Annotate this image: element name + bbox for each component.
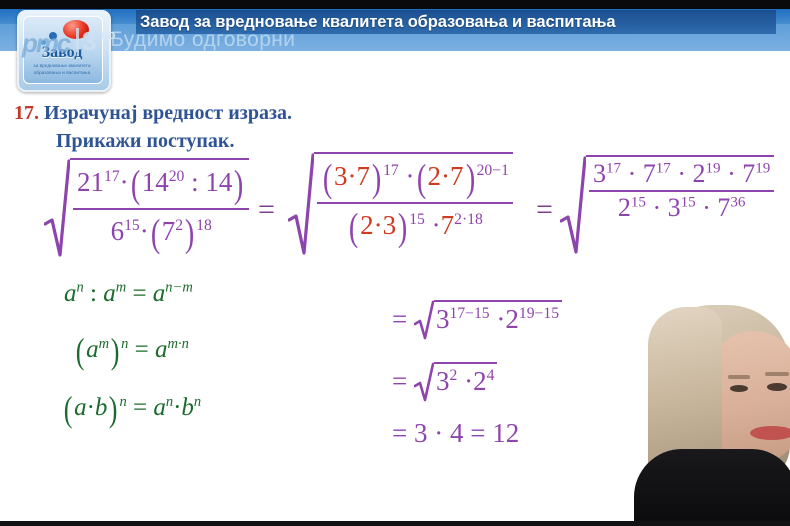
- radical-sign-icon: [288, 152, 314, 256]
- math-term-exponent: 19: [755, 160, 770, 176]
- expression-3-denominator: 215 · 315 · 736: [589, 190, 774, 223]
- math-term-exponent: 19: [706, 160, 721, 176]
- math-term-exponent: 15: [631, 194, 646, 210]
- multiplication-dot: ·: [646, 193, 668, 222]
- math-term-base: 3: [593, 159, 606, 188]
- header-title: Завод за вредновање квалитета образовања…: [136, 10, 776, 34]
- bottom-letterbox-bar: [0, 521, 790, 526]
- math-term-base: 2: [693, 159, 706, 188]
- solution-step-1: = 317−15 ·219−15: [392, 300, 562, 340]
- task-instruction-line-1: Израчунај вредност израза.: [44, 102, 292, 125]
- presenter-torso: [634, 449, 790, 521]
- expression-3-fraction: 317 · 717 · 219 · 719 215 · 315 · 736: [586, 155, 774, 255]
- expression-1-numerator: 2117·(1420 : 14): [73, 162, 249, 208]
- solution-step-2: = 32 ·24: [392, 362, 497, 402]
- expression-2-denominator: (2·3)15 ·72·18: [317, 202, 513, 250]
- expression-2-fraction: (3·7)17 ·(2·7)20−1 (2·3)15 ·72·18: [314, 152, 513, 256]
- presenter-lips: [750, 426, 790, 440]
- logo-subline-2: образовања и васпитања: [19, 70, 105, 75]
- task-number: 17.: [14, 102, 39, 125]
- math-term-exponent: 36: [730, 194, 745, 210]
- expression-1-fraction: 2117·(1420 : 14) 615·(72)18: [70, 158, 249, 258]
- task-instruction-line-2: Прикажи поступак.: [56, 130, 234, 153]
- multiplication-dot: ·: [671, 159, 693, 188]
- multiplication-dot: ·: [721, 159, 743, 188]
- power-rule-2: (am)n = am·n: [74, 330, 189, 372]
- presenter-video-cutout: [612, 293, 790, 521]
- expression-2-numerator: (3·7)17 ·(2·7)20−1: [317, 156, 513, 202]
- expression-3-radical: 317 · 717 · 219 · 719 215 · 315 · 736: [560, 155, 774, 255]
- equals-sign-2: =: [536, 193, 553, 227]
- math-term-exponent: 15: [681, 194, 696, 210]
- expression-2-radical: (3·7)17 ·(2·7)20−1 (2·3)15 ·72·18: [288, 152, 513, 256]
- radical-sign-icon: [44, 158, 70, 258]
- radical-sign-icon: [414, 362, 434, 402]
- channel-bug-number: 3: [82, 26, 96, 57]
- radical-sign-icon: [560, 155, 586, 255]
- math-term-base: 2: [618, 193, 631, 222]
- expression-3-numerator: 317 · 717 · 219 · 719: [589, 159, 774, 190]
- logo-subline-1: за вредновање квалитета: [19, 63, 105, 68]
- math-term-exponent: 17: [656, 160, 671, 176]
- expression-1-denominator: 615·(72)18: [73, 208, 249, 256]
- solution-step-3-result: = 3 · 4 = 12: [392, 418, 519, 449]
- channel-bug-divider: [76, 28, 79, 52]
- broadcast-lesson-screen: Будимо одговорни Завод за вредновање ква…: [0, 0, 790, 526]
- equals-sign-1: =: [258, 193, 275, 227]
- power-rule-3: (a·b)n = an·bn: [62, 388, 201, 430]
- channel-bug-rts: ртс: [22, 28, 69, 59]
- presenter-eyebrow-right: [765, 372, 789, 376]
- presenter-eye-left: [730, 385, 748, 392]
- radical-sign-icon: [414, 300, 434, 340]
- expression-1-radical: 2117·(1420 : 14) 615·(72)18: [44, 158, 249, 258]
- math-term-base: 7: [742, 159, 755, 188]
- top-letterbox-bar: [0, 0, 790, 9]
- math-term-base: 3: [668, 193, 681, 222]
- math-term-base: 7: [643, 159, 656, 188]
- power-rule-1: an : am = an−m: [64, 280, 193, 308]
- math-term-exponent: 17: [606, 160, 621, 176]
- channel-bug-hd: HD: [101, 31, 115, 42]
- presenter-eye-right: [767, 383, 787, 391]
- multiplication-dot: ·: [696, 193, 718, 222]
- presenter-eyebrow-left: [728, 375, 750, 379]
- math-term-base: 7: [717, 193, 730, 222]
- multiplication-dot: ·: [621, 159, 643, 188]
